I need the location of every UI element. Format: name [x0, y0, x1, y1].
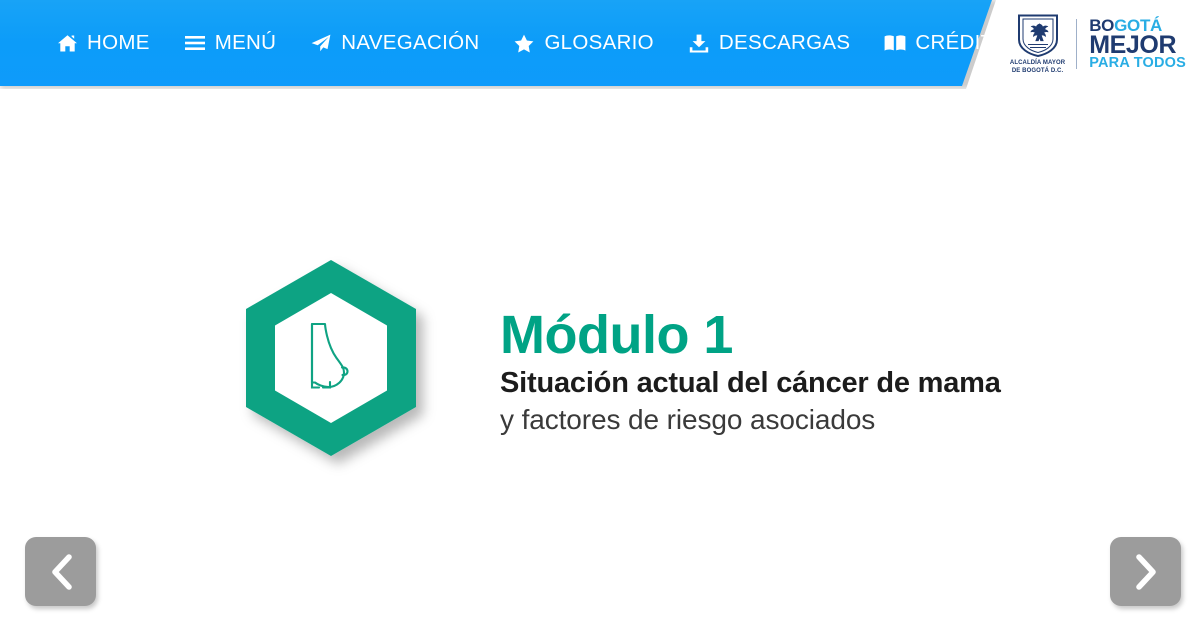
slide-page: HOME MENÚ NAVEGACIÓN — [0, 0, 1200, 640]
crest-caption-line2: DE BOGOTÁ D.C. — [1010, 68, 1065, 75]
module-title-block: Módulo 1 Situación actual del cáncer de … — [500, 306, 1140, 436]
nav-item-creditos[interactable]: CRÉDITOS — [884, 33, 1023, 54]
download-icon — [688, 33, 710, 53]
chevron-left-icon — [48, 553, 74, 591]
nav-label-creditos: CRÉDITOS — [915, 33, 1023, 54]
bogota-logo: ALCALDÍA MAYOR DE BOGOTÁ D.C. BOGOTÁ MEJ… — [1010, 8, 1186, 80]
navbar-menu: HOME MENÚ NAVEGACIÓN — [56, 0, 1023, 86]
open-book-icon — [884, 33, 906, 53]
nav-label-menu: MENÚ — [215, 33, 277, 54]
chevron-right-icon — [1133, 553, 1159, 591]
bogota-mejor-wordmark: BOGOTÁ MEJOR PARA TODOS — [1089, 18, 1186, 71]
page-subtitle-secondary: y factores de riesgo asociados — [500, 403, 1140, 437]
coat-of-arms-icon — [1015, 13, 1061, 57]
nav-item-menu[interactable]: MENÚ — [184, 33, 277, 54]
crest-caption: ALCALDÍA MAYOR DE BOGOTÁ D.C. — [1010, 60, 1065, 75]
hamburger-icon — [184, 33, 206, 53]
crest-caption-line1: ALCALDÍA MAYOR — [1010, 60, 1065, 67]
star-icon — [513, 33, 535, 53]
brand-para-todos: PARA TODOS — [1089, 57, 1186, 70]
logo-divider — [1076, 19, 1077, 69]
page-title: Módulo 1 — [500, 306, 1140, 364]
nav-label-navegacion: NAVEGACIÓN — [341, 33, 479, 54]
nav-label-descargas: DESCARGAS — [719, 33, 850, 54]
next-slide-button[interactable] — [1110, 537, 1181, 606]
module-badge — [228, 256, 448, 476]
nav-item-navegacion[interactable]: NAVEGACIÓN — [310, 33, 479, 54]
previous-slide-button[interactable] — [25, 537, 96, 606]
paper-plane-icon — [310, 33, 332, 53]
top-navigation-bar: HOME MENÚ NAVEGACIÓN — [0, 0, 1200, 92]
nav-item-home[interactable]: HOME — [56, 33, 150, 54]
nav-item-glosario[interactable]: GLOSARIO — [513, 33, 653, 54]
home-icon — [56, 33, 78, 53]
nav-label-glosario: GLOSARIO — [544, 33, 653, 54]
brand-mejor: MEJOR — [1089, 34, 1186, 57]
nav-label-home: HOME — [87, 33, 150, 54]
alcaldia-crest-group: ALCALDÍA MAYOR DE BOGOTÁ D.C. — [1010, 13, 1076, 75]
page-subtitle: Situación actual del cáncer de mama — [500, 366, 1140, 400]
nav-item-descargas[interactable]: DESCARGAS — [688, 33, 850, 54]
